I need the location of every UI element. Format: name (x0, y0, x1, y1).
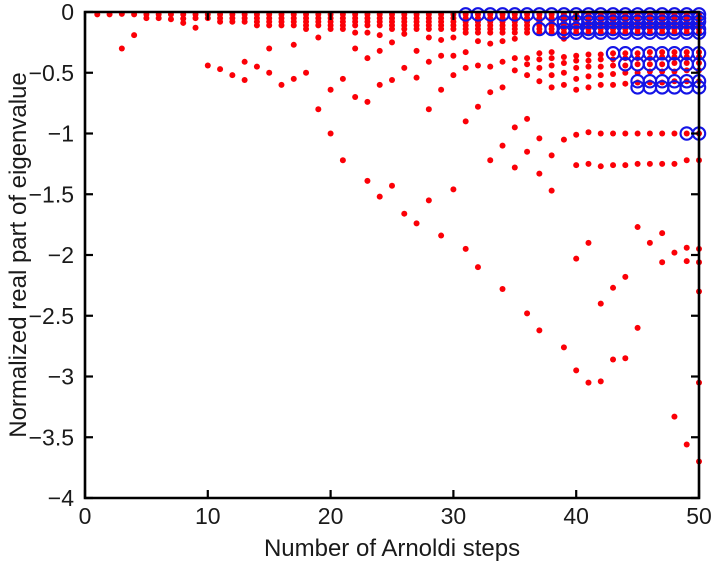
unconverged-ritz-point (524, 55, 530, 61)
unconverged-ritz-point (671, 60, 677, 66)
unconverged-ritz-point (475, 104, 481, 110)
y-tick-label: −2.5 (29, 303, 74, 329)
unconverged-ritz-point (438, 37, 444, 43)
unconverged-ritz-point (450, 186, 456, 192)
unconverged-ritz-point (352, 45, 358, 51)
unconverged-ritz-point (242, 19, 248, 25)
unconverged-ritz-point (450, 53, 456, 59)
axes-layer (85, 12, 699, 498)
unconverged-ritz-point (536, 327, 542, 333)
unconverged-ritz-point (487, 89, 493, 95)
y-axis-tick-labels: 0−0.5−1−1.5−2−2.5−3−3.5−4 (29, 0, 75, 511)
unconverged-ritz-point (328, 131, 334, 137)
unconverged-ritz-point (573, 367, 579, 373)
unconverged-ritz-point (463, 118, 469, 124)
unconverged-ritz-point (352, 94, 358, 100)
unconverged-ritz-point (340, 76, 346, 82)
unconverged-ritz-point (315, 106, 321, 112)
unconverged-ritz-point (426, 106, 432, 112)
unconverged-ritz-point (549, 55, 555, 61)
unconverged-ritz-point (143, 15, 149, 21)
scatter-plot-canvas: 01020304050 0−0.5−1−1.5−2−2.5−3−3.5−4 Nu… (0, 0, 714, 561)
y-axis-ticks (85, 12, 699, 498)
unconverged-ritz-point (524, 310, 530, 316)
unconverged-ritz-point (500, 286, 506, 292)
unconverged-ritz-point (426, 35, 432, 41)
unconverged-ritz-point (487, 157, 493, 163)
unconverged-ritz-point (364, 55, 370, 61)
unconverged-ritz-point (475, 264, 481, 270)
unconverged-ritz-point (291, 76, 297, 82)
unconverged-ritz-point (487, 64, 493, 70)
unconverged-ritz-point (598, 378, 604, 384)
unconverged-ritz-point (364, 99, 370, 105)
unconverged-ritz-point (352, 30, 358, 36)
unconverged-ritz-point (610, 62, 616, 68)
unconverged-ritz-point (585, 84, 591, 90)
unconverged-ritz-point (585, 240, 591, 246)
unconverged-ritz-point (168, 16, 174, 22)
unconverged-ritz-point (475, 38, 481, 44)
unconverged-ritz-point (536, 50, 542, 56)
unconverged-ritz-point (536, 78, 542, 84)
unconverged-ritz-point (647, 131, 653, 137)
unconverged-ritz-point (561, 54, 567, 60)
unconverged-ritz-point (229, 72, 235, 78)
unconverged-ritz-point (610, 285, 616, 291)
x-tick-label: 30 (441, 503, 467, 529)
unconverged-ritz-point (610, 50, 616, 56)
unconverged-ritz-point (536, 135, 542, 141)
unconverged-ritz-point (377, 194, 383, 200)
unconverged-ritz-point (622, 62, 628, 68)
unconverged-ritz-point (598, 72, 604, 78)
unconverged-ritz-point (610, 131, 616, 137)
unconverged-ritz-point (426, 26, 432, 32)
unconverged-ritz-point (266, 22, 272, 28)
unconverged-ritz-point (463, 30, 469, 36)
unconverged-ritz-point (573, 58, 579, 64)
unconverged-ritz-point (291, 22, 297, 28)
unconverged-ritz-point (291, 42, 297, 48)
x-axis-ticks (85, 12, 699, 498)
unconverged-ritz-point (610, 71, 616, 77)
x-tick-label: 0 (79, 503, 92, 529)
unconverged-ritz-point (303, 70, 309, 76)
unconverged-ritz-point (635, 161, 641, 167)
unconverged-points-layer (94, 11, 702, 465)
unconverged-ritz-point (414, 26, 420, 32)
unconverged-ritz-point (438, 26, 444, 32)
unconverged-ritz-point (512, 124, 518, 130)
unconverged-ritz-point (242, 77, 248, 83)
unconverged-ritz-point (377, 32, 383, 38)
unconverged-ritz-point (500, 59, 506, 65)
unconverged-ritz-point (598, 131, 604, 137)
unconverged-ritz-point (598, 163, 604, 169)
unconverged-ritz-point (561, 137, 567, 143)
unconverged-ritz-point (377, 48, 383, 54)
unconverged-ritz-point (671, 250, 677, 256)
unconverged-ritz-point (254, 64, 260, 70)
unconverged-ritz-point (512, 30, 518, 36)
unconverged-ritz-point (622, 274, 628, 280)
unconverged-ritz-point (193, 25, 199, 31)
unconverged-ritz-point (549, 84, 555, 90)
unconverged-ritz-point (156, 15, 162, 21)
plot-box-border (85, 12, 699, 498)
unconverged-ritz-point (512, 55, 518, 61)
unconverged-ritz-point (684, 442, 690, 448)
unconverged-ritz-point (573, 65, 579, 71)
unconverged-ritz-point (500, 84, 506, 90)
unconverged-ritz-point (500, 30, 506, 36)
unconverged-ritz-point (500, 38, 506, 44)
unconverged-ritz-point (328, 87, 334, 93)
unconverged-ritz-point (684, 157, 690, 163)
unconverged-ritz-point (266, 45, 272, 51)
unconverged-ritz-point (450, 26, 456, 32)
unconverged-ritz-point (401, 65, 407, 71)
unconverged-ritz-point (315, 35, 321, 41)
unconverged-ritz-point (585, 58, 591, 64)
unconverged-ritz-point (377, 22, 383, 28)
unconverged-ritz-point (647, 61, 653, 67)
unconverged-ritz-point (389, 77, 395, 83)
unconverged-ritz-point (622, 355, 628, 361)
unconverged-ritz-point (622, 81, 628, 87)
unconverged-ritz-point (438, 87, 444, 93)
unconverged-ritz-point (377, 82, 383, 88)
unconverged-ritz-point (549, 62, 555, 68)
y-tick-label: −2 (48, 242, 74, 268)
unconverged-ritz-point (647, 161, 653, 167)
unconverged-ritz-point (278, 82, 284, 88)
unconverged-ritz-point (487, 30, 493, 36)
unconverged-ritz-point (598, 301, 604, 307)
unconverged-ritz-point (524, 149, 530, 155)
unconverged-ritz-point (561, 70, 567, 76)
unconverged-ritz-point (585, 161, 591, 167)
unconverged-ritz-point (536, 56, 542, 62)
unconverged-ritz-point (585, 52, 591, 58)
x-axis-tick-labels: 01020304050 (79, 503, 712, 529)
unconverged-ritz-point (622, 162, 628, 168)
unconverged-ritz-point (671, 414, 677, 420)
unconverged-ritz-point (561, 60, 567, 66)
unconverged-ritz-point (303, 26, 309, 32)
unconverged-ritz-point (463, 49, 469, 55)
y-tick-label: −3.5 (29, 424, 74, 450)
unconverged-ritz-point (659, 61, 665, 67)
unconverged-ritz-point (610, 162, 616, 168)
unconverged-ritz-point (352, 22, 358, 28)
unconverged-ritz-point (278, 22, 284, 28)
y-axis-title: Normalized real part of eigenvalue (5, 72, 32, 438)
unconverged-ritz-point (684, 60, 690, 66)
unconverged-ritz-point (573, 87, 579, 93)
converged-points-layer (459, 8, 705, 139)
x-axis-title: Number of Arnoldi steps (264, 535, 520, 561)
x-tick-label: 10 (195, 503, 221, 529)
unconverged-ritz-point (401, 31, 407, 37)
unconverged-ritz-point (389, 26, 395, 32)
unconverged-ritz-point (573, 76, 579, 82)
x-tick-label: 40 (563, 503, 589, 529)
unconverged-ritz-point (635, 325, 641, 331)
unconverged-ritz-point (549, 152, 555, 158)
unconverged-ritz-point (450, 72, 456, 78)
unconverged-ritz-point (340, 26, 346, 32)
unconverged-ritz-point (119, 45, 125, 51)
unconverged-ritz-point (549, 72, 555, 78)
unconverged-ritz-point (512, 67, 518, 73)
unconverged-ritz-point (475, 30, 481, 36)
unconverged-ritz-point (536, 171, 542, 177)
unconverged-ritz-point (364, 178, 370, 184)
unconverged-ritz-point (389, 39, 395, 45)
y-tick-label: −1 (48, 121, 74, 147)
unconverged-ritz-point (500, 143, 506, 149)
unconverged-ritz-point (180, 20, 186, 26)
unconverged-ritz-point (585, 64, 591, 70)
unconverged-ritz-point (585, 380, 591, 386)
unconverged-ritz-point (266, 70, 272, 76)
unconverged-ritz-point (475, 62, 481, 68)
y-tick-label: −0.5 (29, 60, 74, 86)
unconverged-ritz-point (598, 56, 604, 62)
unconverged-ritz-point (598, 64, 604, 70)
y-tick-label: 0 (61, 0, 74, 25)
unconverged-ritz-point (524, 72, 530, 78)
unconverged-ritz-point (389, 183, 395, 189)
unconverged-ritz-point (671, 131, 677, 137)
x-tick-label: 20 (318, 503, 344, 529)
unconverged-ritz-point (426, 197, 432, 203)
unconverged-ritz-point (635, 224, 641, 230)
unconverged-ritz-point (573, 162, 579, 168)
unconverged-ritz-point (254, 22, 260, 28)
unconverged-ritz-point (414, 220, 420, 226)
unconverged-ritz-point (635, 61, 641, 67)
unconverged-ritz-point (512, 36, 518, 42)
unconverged-ritz-point (438, 53, 444, 59)
unconverged-ritz-point (684, 131, 690, 137)
unconverged-ritz-point (315, 22, 321, 28)
arnoldi-convergence-figure: 01020304050 0−0.5−1−1.5−2−2.5−3−3.5−4 Nu… (0, 0, 714, 561)
unconverged-ritz-point (205, 62, 211, 68)
unconverged-ritz-point (585, 73, 591, 79)
unconverged-ritz-point (401, 211, 407, 217)
unconverged-ritz-point (414, 48, 420, 54)
unconverged-ritz-point (364, 22, 370, 28)
unconverged-ritz-point (610, 356, 616, 362)
unconverged-ritz-point (131, 32, 137, 38)
unconverged-ritz-point (684, 258, 690, 264)
unconverged-ritz-point (585, 129, 591, 135)
y-tick-label: −1.5 (29, 181, 74, 207)
unconverged-ritz-point (524, 30, 530, 36)
unconverged-ritz-point (561, 344, 567, 350)
unconverged-ritz-point (684, 245, 690, 251)
unconverged-ritz-point (573, 132, 579, 138)
unconverged-ritz-point (364, 30, 370, 36)
axis-labels-layer: 01020304050 0−0.5−1−1.5−2−2.5−3−3.5−4 Nu… (5, 0, 712, 561)
unconverged-ritz-point (217, 19, 223, 25)
unconverged-ritz-point (622, 131, 628, 137)
unconverged-ritz-point (561, 82, 567, 88)
unconverged-ritz-point (328, 26, 334, 32)
unconverged-ritz-point (450, 35, 456, 41)
unconverged-ritz-point (647, 49, 653, 55)
unconverged-ritz-point (242, 59, 248, 65)
unconverged-ritz-point (229, 19, 235, 25)
unconverged-ritz-point (524, 116, 530, 122)
unconverged-ritz-point (414, 75, 420, 81)
x-tick-label: 50 (686, 503, 712, 529)
unconverged-ritz-point (573, 256, 579, 262)
unconverged-ritz-point (512, 165, 518, 171)
unconverged-ritz-point (549, 49, 555, 55)
unconverged-ritz-point (463, 246, 469, 252)
unconverged-ritz-point (659, 131, 665, 137)
unconverged-ritz-point (610, 82, 616, 88)
unconverged-ritz-point (647, 240, 653, 246)
unconverged-ritz-point (549, 188, 555, 194)
unconverged-ritz-point (438, 233, 444, 239)
unconverged-ritz-point (426, 59, 432, 65)
unconverged-ritz-point (671, 161, 677, 167)
unconverged-ritz-point (217, 66, 223, 72)
unconverged-ritz-point (659, 230, 665, 236)
unconverged-ritz-point (635, 131, 641, 137)
unconverged-ritz-point (487, 41, 493, 47)
unconverged-ritz-point (524, 61, 530, 67)
unconverged-ritz-point (340, 157, 346, 163)
unconverged-ritz-point (659, 259, 665, 265)
y-tick-label: −3 (48, 364, 74, 390)
unconverged-ritz-point (463, 65, 469, 71)
unconverged-ritz-point (193, 15, 199, 21)
unconverged-ritz-point (659, 161, 665, 167)
unconverged-ritz-point (598, 82, 604, 88)
y-tick-label: −4 (48, 485, 74, 511)
unconverged-ritz-point (536, 65, 542, 71)
